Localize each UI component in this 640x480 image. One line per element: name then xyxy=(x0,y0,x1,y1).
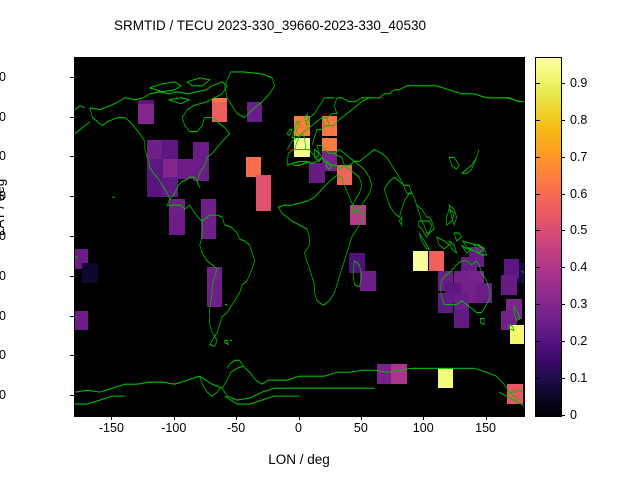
y-axis-tick-label: -20 xyxy=(0,269,6,283)
colorbar-tick-mark-inner xyxy=(536,341,540,342)
x-axis-tick-label: -100 xyxy=(161,421,186,435)
y-axis-tick-mark xyxy=(70,77,74,78)
colorbar-tick-mark xyxy=(561,120,565,121)
y-axis-tick-label: 20 xyxy=(0,189,6,203)
colorbar-tick-label: 0.2 xyxy=(570,334,587,348)
colorbar-tick-mark-inner xyxy=(536,304,540,305)
y-axis-tick-mark xyxy=(70,276,74,277)
colorbar-tick-mark-inner xyxy=(536,120,540,121)
colorbar-tick-mark xyxy=(561,267,565,268)
y-axis-label: LAT / deg xyxy=(0,179,7,236)
figure-canvas: SRMTID / TECU 2023-330_39660-2023-330_40… xyxy=(0,0,640,480)
y-axis-tick-mark xyxy=(70,156,74,157)
x-axis-tick-label: 100 xyxy=(413,421,434,435)
x-axis-tick-label: -50 xyxy=(227,421,245,435)
y-axis-tick-mark xyxy=(70,196,74,197)
x-axis-tick-mark xyxy=(361,416,362,420)
colorbar-tick-mark xyxy=(561,341,565,342)
colorbar-tick-label: 0.9 xyxy=(570,76,587,90)
colorbar-tick-mark-inner xyxy=(536,267,540,268)
colorbar-tick-label: 0.5 xyxy=(570,223,587,237)
colorbar-tick-label: 0.1 xyxy=(570,371,587,385)
colorbar-tick-mark-inner xyxy=(536,83,540,84)
x-axis-tick-mark xyxy=(174,416,175,420)
colorbar-tick-label: 0.4 xyxy=(570,260,587,274)
y-axis-tick-label: -40 xyxy=(0,309,6,323)
colorbar-tick-label: 0.3 xyxy=(570,297,587,311)
colorbar[interactable] xyxy=(535,57,562,417)
colorbar-tick-mark xyxy=(561,378,565,379)
y-axis-tick-mark xyxy=(70,395,74,396)
coastline-layer xyxy=(75,58,524,416)
x-axis-tick-mark xyxy=(299,416,300,420)
y-axis-tick-mark xyxy=(70,117,74,118)
x-axis-label: LON / deg xyxy=(0,452,598,467)
x-axis-tick-mark xyxy=(423,416,424,420)
x-axis-tick-label: 0 xyxy=(295,421,302,435)
colorbar-tick-mark xyxy=(561,415,565,416)
colorbar-tick-label: 0.8 xyxy=(570,113,587,127)
y-axis-tick-mark xyxy=(70,355,74,356)
y-axis-tick-mark xyxy=(70,236,74,237)
x-axis-tick-mark xyxy=(236,416,237,420)
y-axis-tick-label: -80 xyxy=(0,388,6,402)
x-axis-tick-label: 150 xyxy=(475,421,496,435)
colorbar-tick-mark xyxy=(561,157,565,158)
chart-title: SRMTID / TECU 2023-330_39660-2023-330_40… xyxy=(0,18,540,33)
colorbar-tick-mark xyxy=(561,83,565,84)
colorbar-tick-label: 0.7 xyxy=(570,150,587,164)
y-axis-tick-mark xyxy=(70,316,74,317)
colorbar-tick-mark-inner xyxy=(536,230,540,231)
x-axis-tick-label: -150 xyxy=(99,421,124,435)
y-axis-tick-label: -60 xyxy=(0,348,6,362)
y-axis-tick-label: 60 xyxy=(0,110,6,124)
colorbar-tick-mark xyxy=(561,194,565,195)
colorbar-tick-mark-inner xyxy=(536,157,540,158)
colorbar-tick-mark-inner xyxy=(536,415,540,416)
colorbar-tick-label: 0.6 xyxy=(570,187,587,201)
x-axis-tick-mark xyxy=(486,416,487,420)
colorbar-tick-mark xyxy=(561,304,565,305)
x-axis-tick-label: 50 xyxy=(354,421,368,435)
colorbar-tick-mark xyxy=(561,230,565,231)
colorbar-tick-mark-inner xyxy=(536,194,540,195)
y-axis-tick-label: 0 xyxy=(0,229,6,243)
colorbar-tick-label: 0 xyxy=(570,408,577,422)
x-axis-tick-mark xyxy=(111,416,112,420)
colorbar-tick-mark-inner xyxy=(536,378,540,379)
y-axis-tick-label: 80 xyxy=(0,70,6,84)
map-plot-area[interactable] xyxy=(74,57,525,417)
y-axis-tick-label: 40 xyxy=(0,149,6,163)
